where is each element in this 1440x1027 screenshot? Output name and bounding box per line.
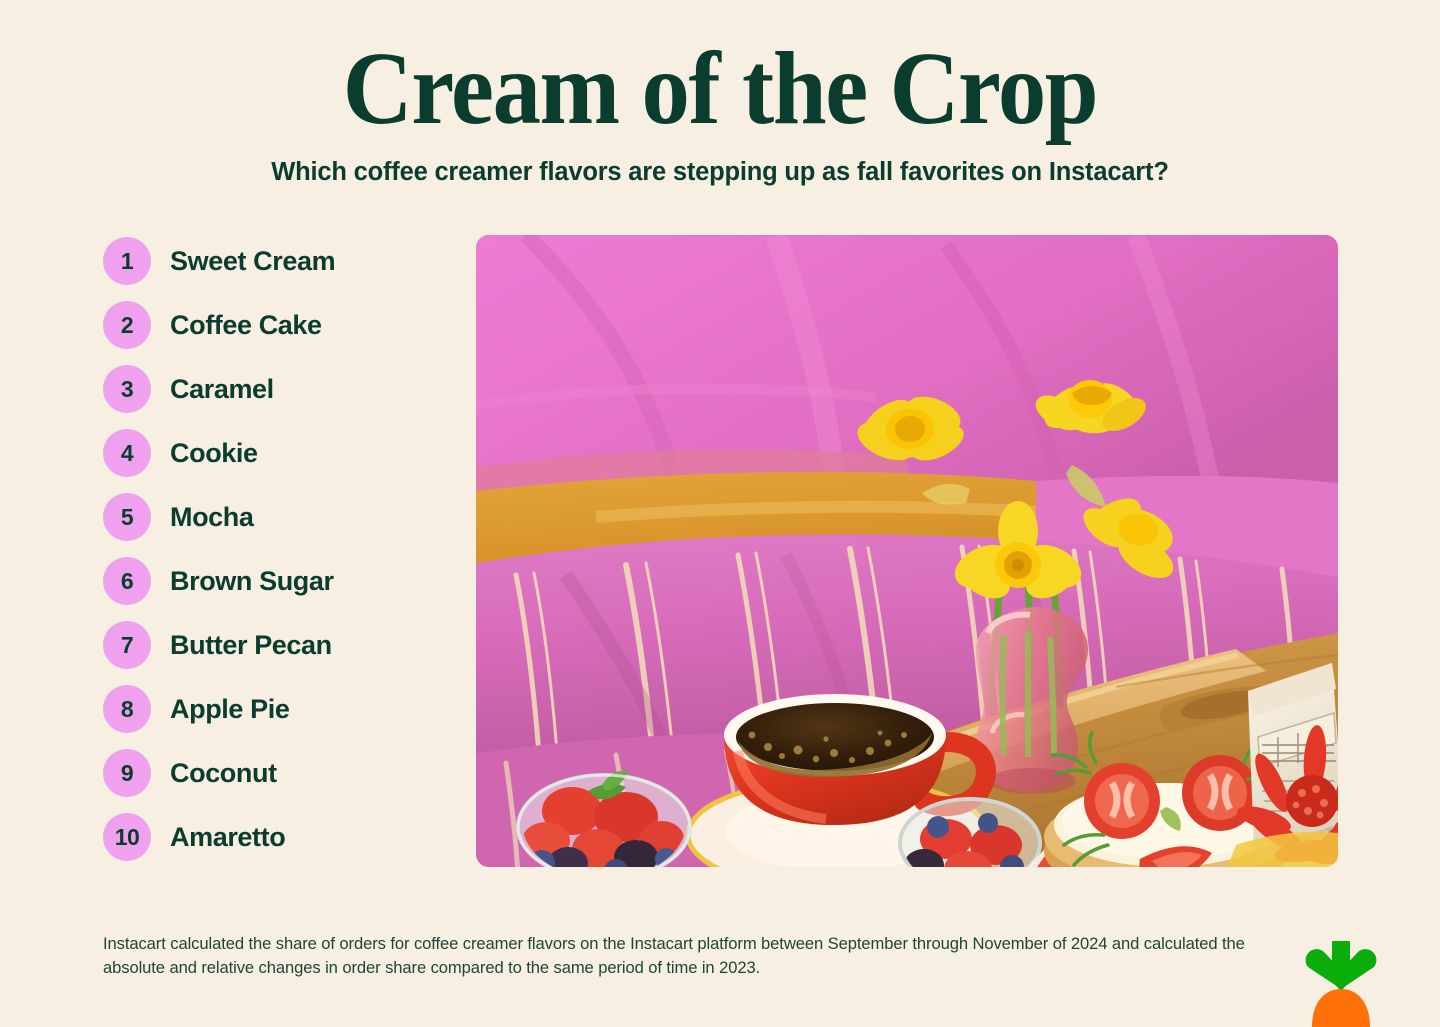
flavor-label: Coffee Cake: [170, 310, 322, 341]
list-item: 4 Cookie: [103, 429, 453, 477]
photo-illustration: [476, 235, 1338, 867]
flavor-label: Coconut: [170, 758, 277, 789]
flavor-ranking-list: 1 Sweet Cream 2 Coffee Cake 3 Caramel 4 …: [103, 237, 453, 877]
list-item: 5 Mocha: [103, 493, 453, 541]
flavor-label: Amaretto: [170, 822, 285, 853]
flavor-label: Cookie: [170, 438, 258, 469]
list-item: 1 Sweet Cream: [103, 237, 453, 285]
list-item: 10 Amaretto: [103, 813, 453, 861]
infographic-page: Cream of the Crop Which coffee creamer f…: [0, 0, 1440, 1027]
list-item: 7 Butter Pecan: [103, 621, 453, 669]
instacart-carrot-logo: [1296, 937, 1386, 1027]
flavor-label: Butter Pecan: [170, 630, 332, 661]
rank-badge: 5: [103, 493, 151, 541]
methodology-footnote: Instacart calculated the share of orders…: [103, 932, 1263, 980]
carrot-icon: [1296, 937, 1386, 1027]
list-item: 6 Brown Sugar: [103, 557, 453, 605]
rank-badge: 3: [103, 365, 151, 413]
rank-badge: 7: [103, 621, 151, 669]
flavor-label: Brown Sugar: [170, 566, 334, 597]
list-item: 9 Coconut: [103, 749, 453, 797]
list-item: 8 Apple Pie: [103, 685, 453, 733]
rank-badge: 10: [103, 813, 151, 861]
rank-badge: 6: [103, 557, 151, 605]
flavor-label: Caramel: [170, 374, 274, 405]
list-item: 3 Caramel: [103, 365, 453, 413]
page-title: Cream of the Crop: [50, 34, 1389, 144]
rank-badge: 9: [103, 749, 151, 797]
list-item: 2 Coffee Cake: [103, 301, 453, 349]
flavor-label: Mocha: [170, 502, 254, 533]
rank-badge: 1: [103, 237, 151, 285]
rank-badge: 2: [103, 301, 151, 349]
breakfast-in-bed-photo: [476, 235, 1338, 867]
flavor-label: Sweet Cream: [170, 246, 335, 277]
rank-badge: 8: [103, 685, 151, 733]
flavor-label: Apple Pie: [170, 694, 289, 725]
page-subtitle: Which coffee creamer flavors are steppin…: [0, 158, 1440, 187]
rank-badge: 4: [103, 429, 151, 477]
